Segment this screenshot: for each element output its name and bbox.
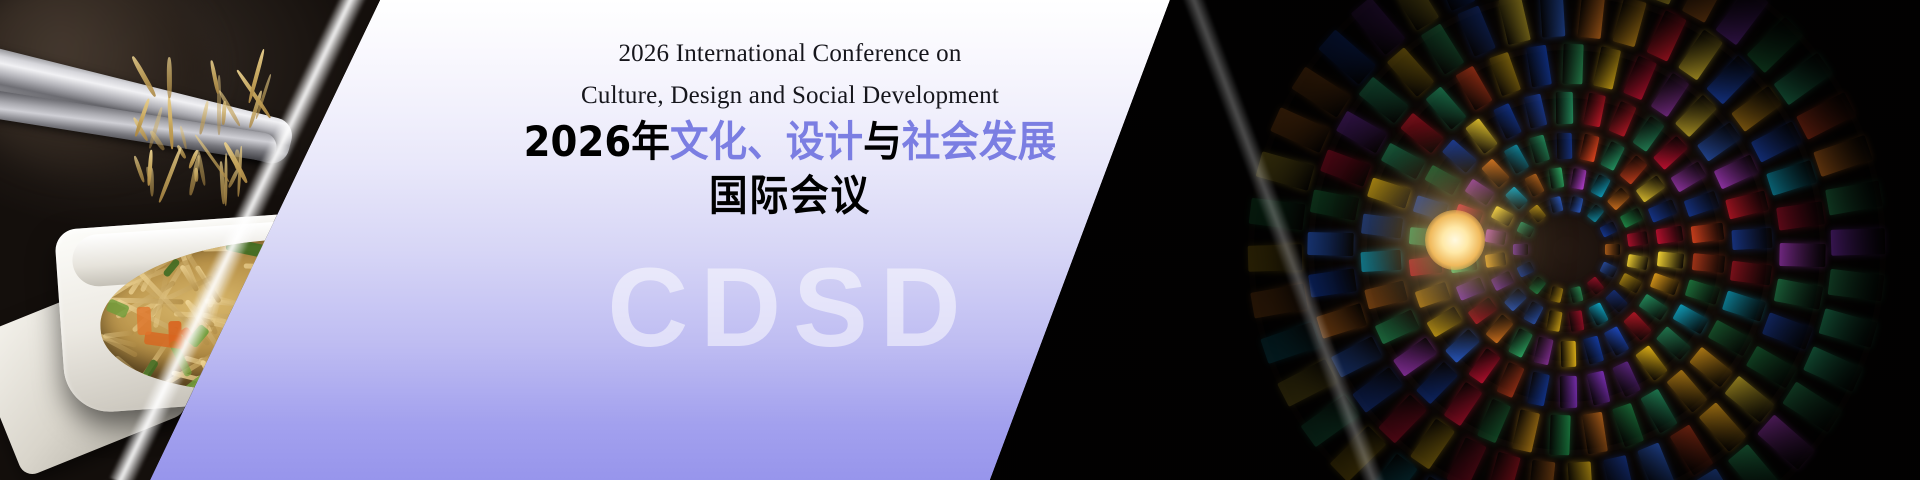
stained-glass-tile [1656,251,1683,268]
chinese-title-segment-0: 2026年 [524,117,670,166]
chinese-title-segment-2: 与 [863,117,902,166]
stained-glass-tile [1732,227,1773,249]
stained-glass-tile [1691,222,1725,243]
noodle-strand [168,97,175,150]
chinese-title-line-1: 2026年文化、设计与社会发展 [503,116,1077,168]
lifted-noodles [120,70,270,200]
chinese-title-line-2: 国际会议 [505,170,1075,222]
vegetable-piece [136,307,151,336]
stained-glass-tile [1831,228,1886,255]
stained-glass-tile [1560,375,1577,407]
noodle-strand [167,57,172,98]
acronym-watermark: CDSD [480,248,1100,368]
stained-glass-tile [1556,132,1572,158]
stained-glass-tile [1691,253,1724,273]
noodle-strand [198,101,209,135]
stained-glass-tile [1562,43,1583,84]
english-title-line-1: 2026 International Conference on [480,40,1100,68]
noodle-strand [132,155,145,183]
chinese-title-segment-3: 社会发展 [902,117,1057,166]
stained-glass-tile [1550,415,1571,456]
stained-glass-tile [1548,168,1564,190]
stained-glass-tile [1568,462,1594,480]
stained-glass-tile [1360,249,1401,271]
stained-glass-tile [1605,244,1620,255]
stained-glass-tile [1513,244,1528,255]
stained-glass-tile [1540,0,1566,38]
noodle-strand [158,147,183,203]
stained-glass-tile [1528,460,1556,480]
stained-glass-tile [1561,340,1577,366]
stained-glass-tile [1307,232,1354,256]
stained-glass-tile [1779,243,1826,267]
dome-center-light [1425,210,1485,270]
conference-banner: 2026 International Conference on Culture… [0,0,1920,480]
chinese-title-segment-1: 文化、设计 [670,117,863,166]
stained-glass-tile [1485,252,1507,268]
stained-glass-tile [1627,254,1649,270]
stained-glass-tile [1556,91,1573,123]
english-title-line-2: Culture, Design and Social Development [480,82,1100,110]
banner-text-block: 2026 International Conference on Culture… [480,0,1100,480]
